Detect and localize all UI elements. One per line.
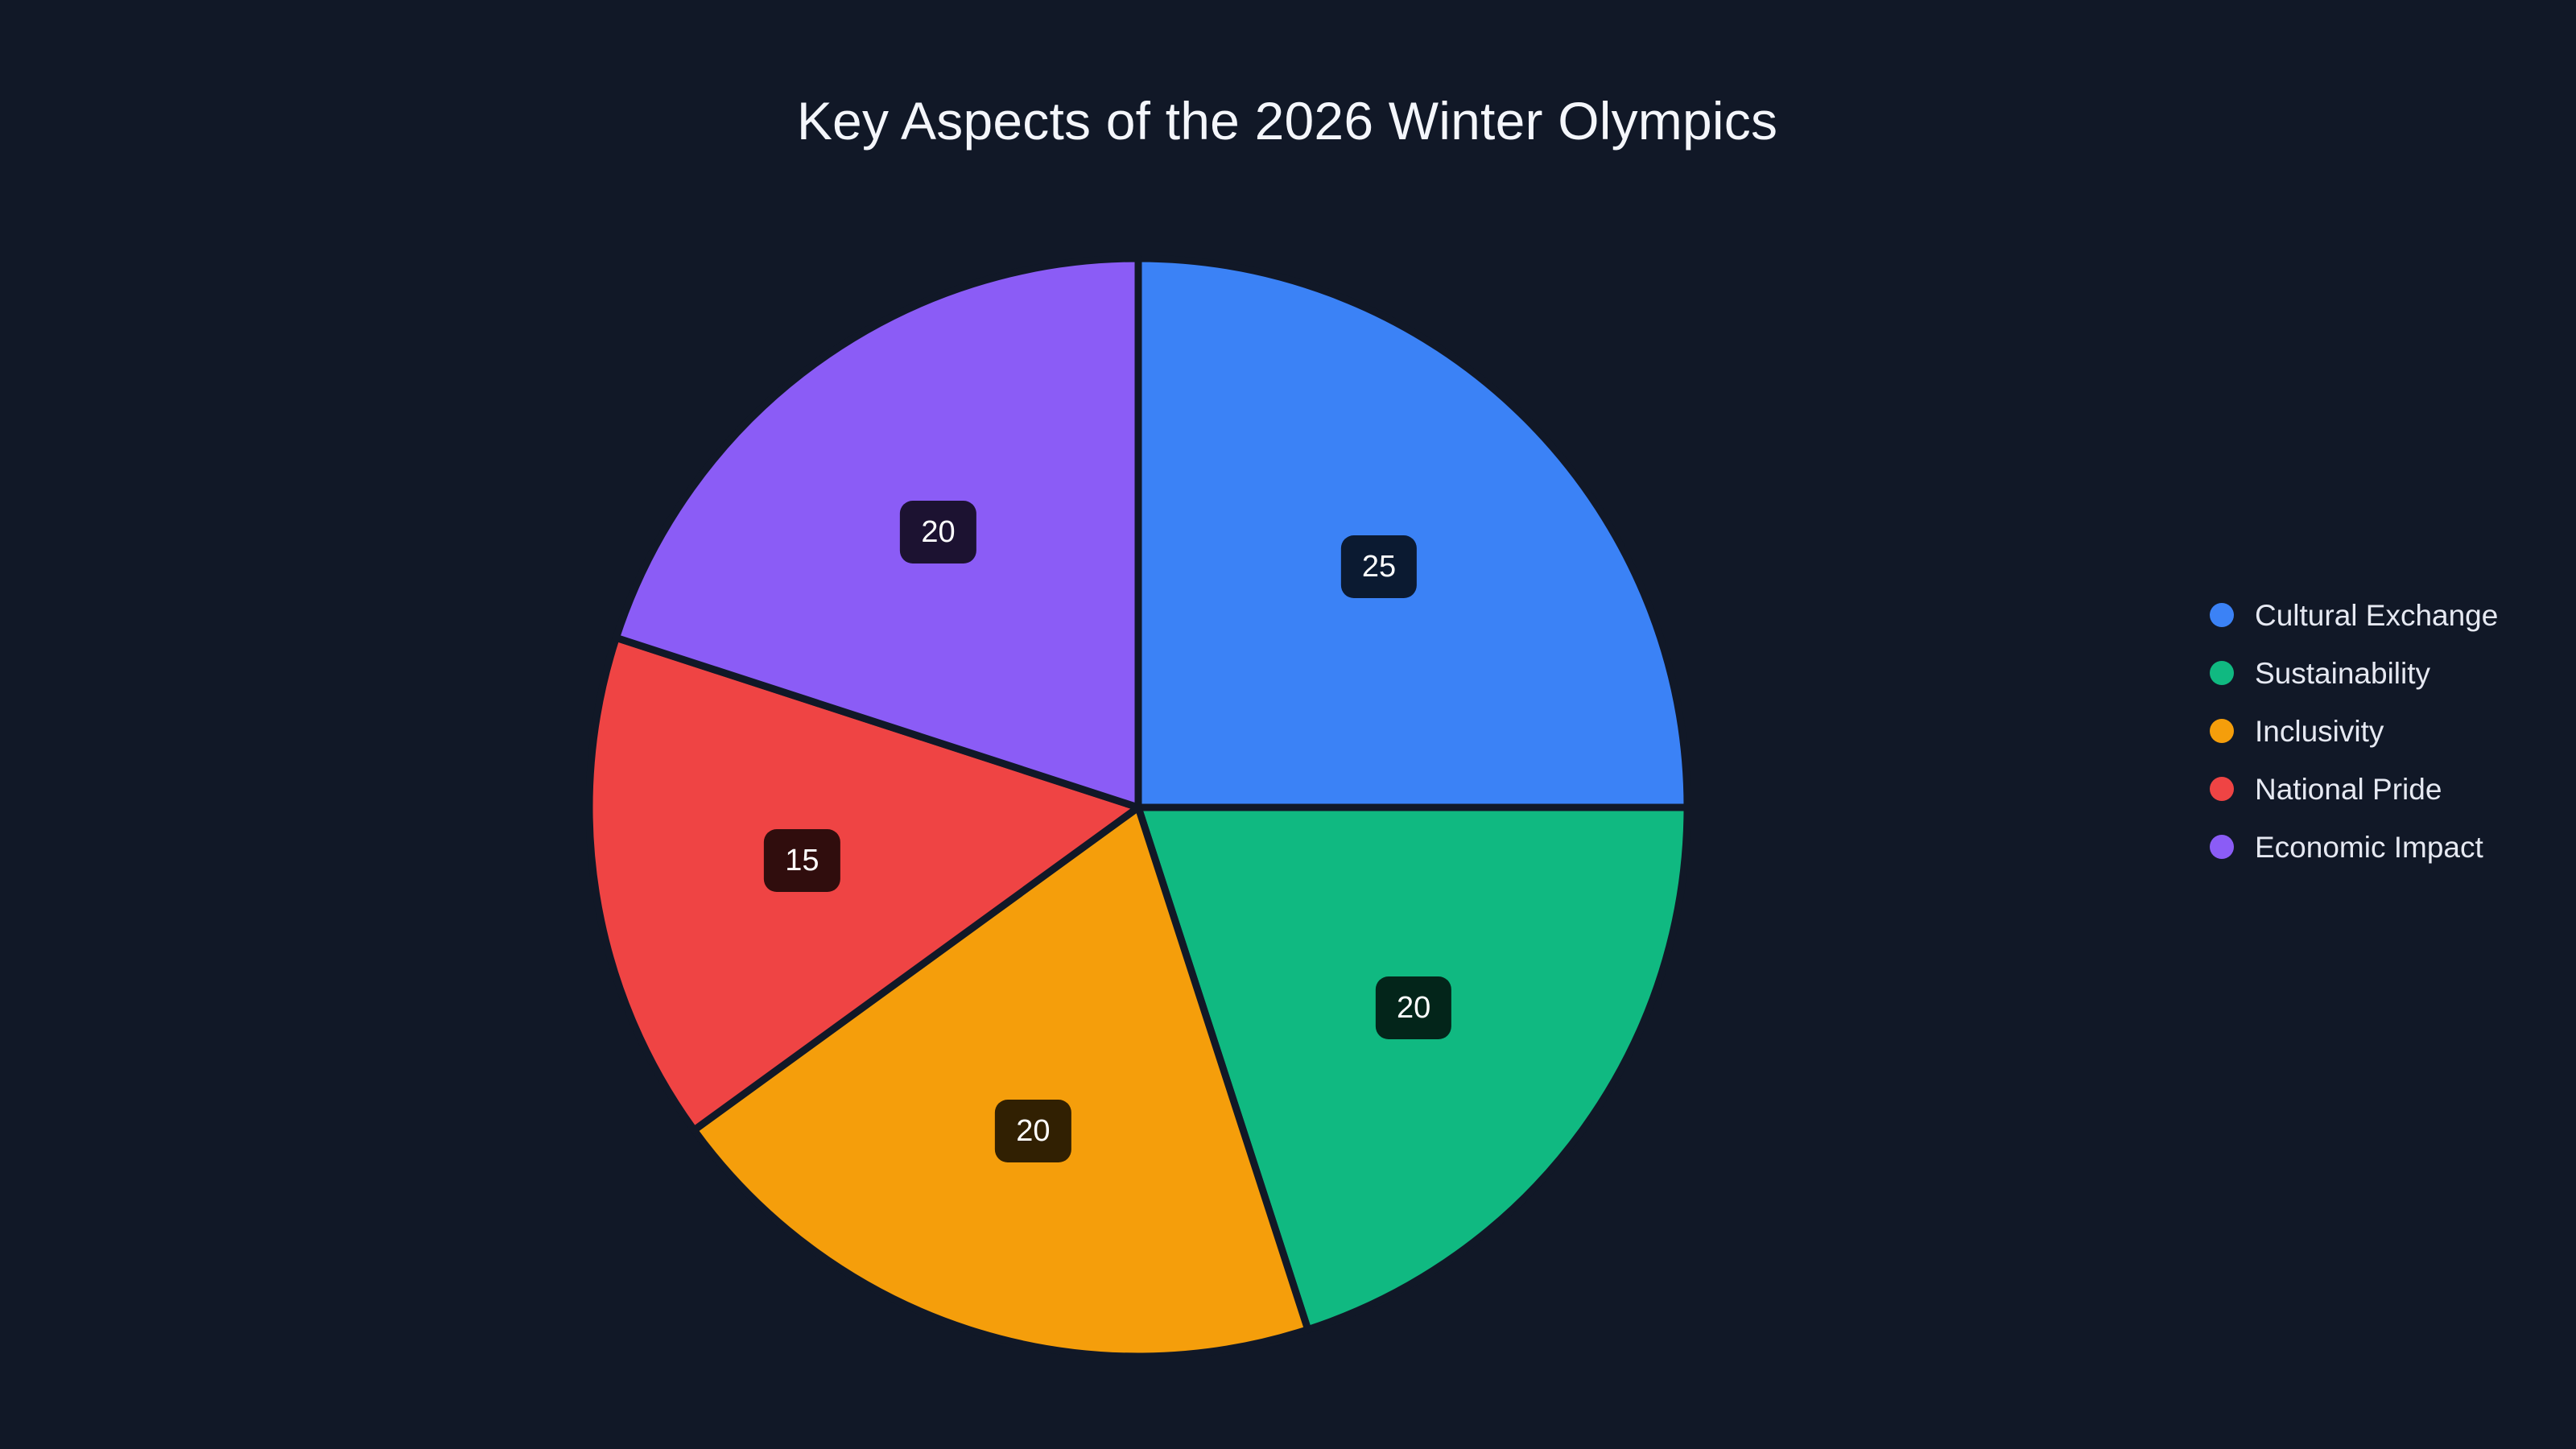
legend-item[interactable]: National Pride xyxy=(2210,760,2548,818)
legend-swatch-icon xyxy=(2210,719,2234,743)
pie-svg xyxy=(586,255,1690,1360)
legend-swatch-icon xyxy=(2210,661,2234,685)
legend-item-label: Cultural Exchange xyxy=(2255,601,2498,630)
chart-canvas: Key Aspects of the 2026 Winter Olympics … xyxy=(0,0,2576,1449)
legend-swatch-icon xyxy=(2210,835,2234,859)
legend-item[interactable]: Economic Impact xyxy=(2210,818,2548,876)
legend-item-label: Sustainability xyxy=(2255,658,2430,688)
legend-item-label: Economic Impact xyxy=(2255,832,2483,862)
chart-legend: Cultural ExchangeSustainabilityInclusivi… xyxy=(2210,586,2548,876)
pie-slice[interactable] xyxy=(1138,258,1687,807)
legend-item-label: Inclusivity xyxy=(2255,716,2384,746)
legend-item[interactable]: Inclusivity xyxy=(2210,702,2548,760)
legend-item[interactable]: Sustainability xyxy=(2210,644,2548,702)
legend-swatch-icon xyxy=(2210,603,2234,627)
legend-swatch-icon xyxy=(2210,777,2234,801)
chart-title-text: Key Aspects of the 2026 Winter Olympics xyxy=(797,90,1777,151)
page-title: Key Aspects of the 2026 Winter Olympics xyxy=(0,90,2576,151)
legend-item[interactable]: Cultural Exchange xyxy=(2210,586,2548,644)
legend-item-label: National Pride xyxy=(2255,774,2442,804)
pie-chart: 2520201520 xyxy=(586,255,1690,1360)
